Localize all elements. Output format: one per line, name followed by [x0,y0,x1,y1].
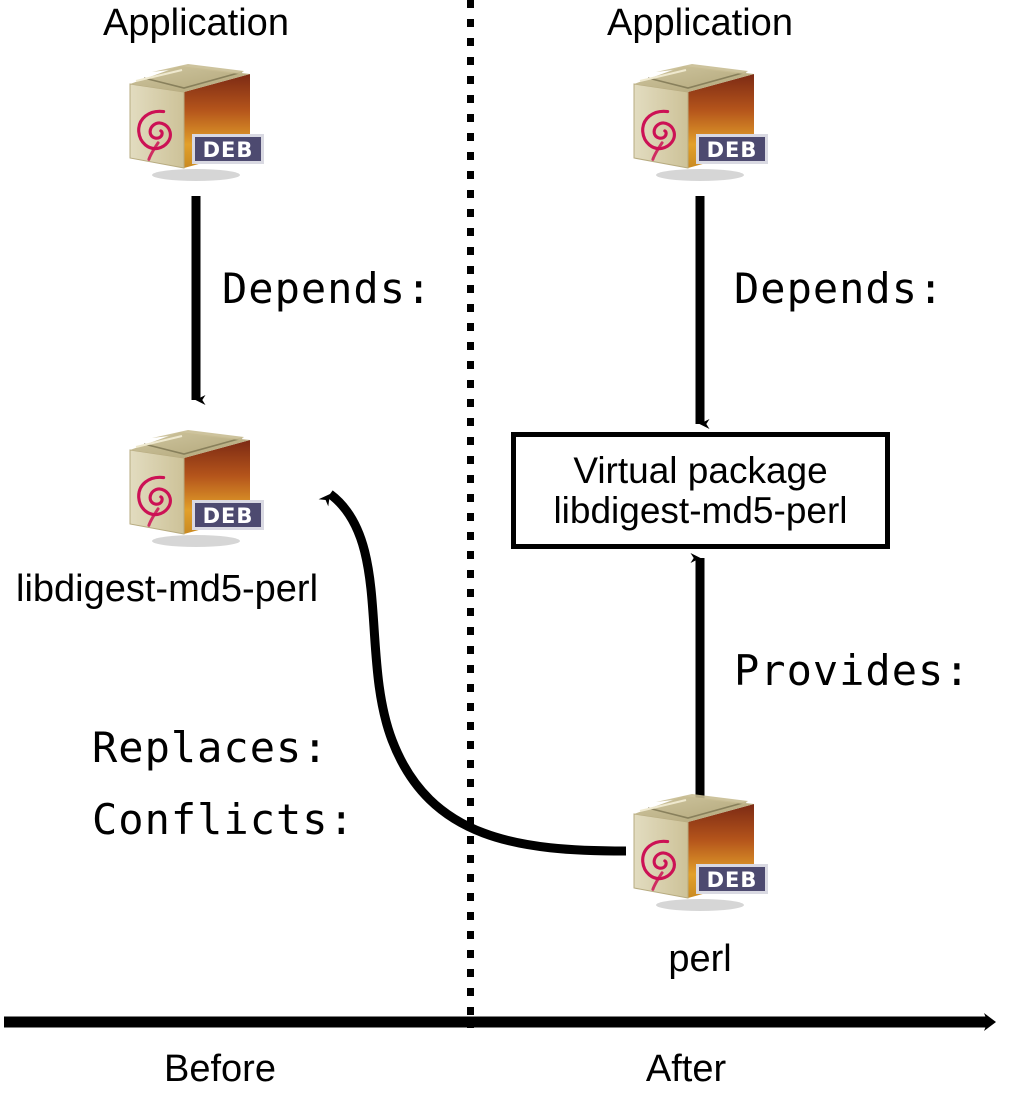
left-depends-label: Depends: [222,268,432,310]
deb-badge: DEB [192,500,264,530]
provides-label: Provides: [734,650,971,692]
svg-text:DEB: DEB [707,868,758,892]
virtual-package-line-2: libdigest-md5-perl [553,491,847,531]
left-application-title: Application [103,4,289,42]
before-after-divider [467,0,474,1028]
debian-deb-package-icon: DEB [122,62,270,182]
debian-deb-package-icon: DEB [626,62,774,182]
diagram-canvas: Application [0,0,1024,1094]
debian-deb-package-icon: DEB [626,792,774,912]
right-application-title: Application [607,4,793,42]
right-depends-label: Depends: [734,268,944,310]
deb-badge: DEB [192,134,264,164]
replaces-label: Replaces: [92,727,329,769]
virtual-package-line-1: Virtual package [573,451,827,491]
timeline-after-label: After [646,1050,726,1088]
timeline-before-label: Before [164,1050,276,1088]
svg-text:DEB: DEB [203,138,254,162]
virtual-package-box: Virtual package libdigest-md5-perl [511,432,890,549]
debian-deb-package-icon: DEB [122,428,270,548]
deb-badge: DEB [696,864,768,894]
svg-text:DEB: DEB [203,504,254,528]
svg-text:DEB: DEB [707,138,758,162]
conflicts-label: Conflicts: [92,799,355,841]
deb-badge: DEB [696,134,768,164]
right-package-label: perl [668,940,731,978]
left-package-label: libdigest-md5-perl [16,570,318,608]
